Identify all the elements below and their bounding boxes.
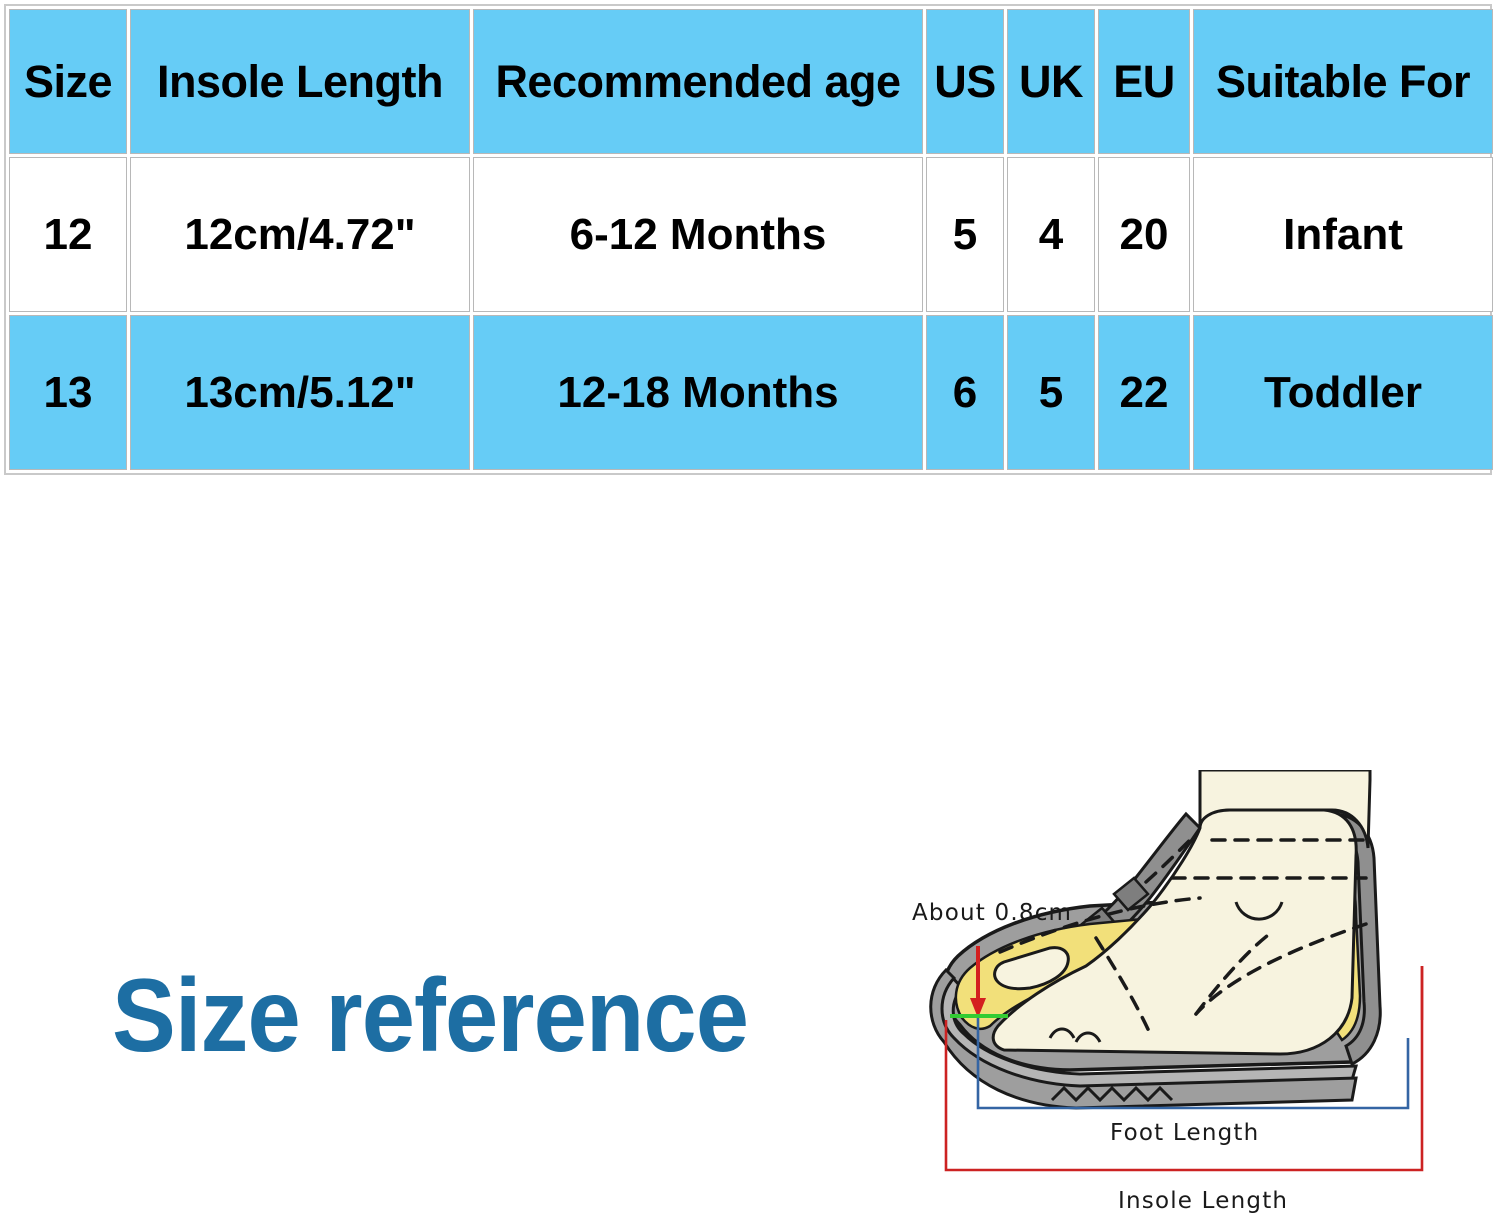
cell-suitable-for: Toddler <box>1193 315 1493 470</box>
gap-measurement-label: About 0.8cm <box>912 900 1072 926</box>
header-suitable-for: Suitable For <box>1193 9 1493 154</box>
table-row: 13 13cm/5.12" 12-18 Months 6 5 22 Toddle… <box>9 315 1493 470</box>
cell-us: 5 <box>926 157 1004 312</box>
size-table: Size Insole Length Recommended age US UK… <box>6 6 1496 473</box>
header-us: US <box>926 9 1004 154</box>
size-chart-table: Size Insole Length Recommended age US UK… <box>4 4 1492 475</box>
table-header-row: Size Insole Length Recommended age US UK… <box>9 9 1493 154</box>
header-recommended-age: Recommended age <box>473 9 923 154</box>
cell-eu: 20 <box>1098 157 1190 312</box>
cell-uk: 5 <box>1007 315 1095 470</box>
cell-us: 6 <box>926 315 1004 470</box>
cell-size: 13 <box>9 315 127 470</box>
header-size: Size <box>9 9 127 154</box>
cell-suitable-for: Infant <box>1193 157 1493 312</box>
cell-eu: 22 <box>1098 315 1190 470</box>
cell-insole-length: 12cm/4.72" <box>130 157 470 312</box>
cell-recommended-age: 6-12 Months <box>473 157 923 312</box>
header-eu: EU <box>1098 9 1190 154</box>
foot-length-label: Foot Length <box>1110 1120 1259 1146</box>
header-uk: UK <box>1007 9 1095 154</box>
table-row: 12 12cm/4.72" 6-12 Months 5 4 20 Infant <box>9 157 1493 312</box>
shoe-measurement-diagram: About 0.8cm Foot Length Insole Length <box>900 770 1490 1210</box>
cell-insole-length: 13cm/5.12" <box>130 315 470 470</box>
cell-recommended-age: 12-18 Months <box>473 315 923 470</box>
size-reference-title: Size reference <box>112 962 748 1071</box>
cell-size: 12 <box>9 157 127 312</box>
cell-uk: 4 <box>1007 157 1095 312</box>
insole-length-label: Insole Length <box>1118 1188 1288 1214</box>
header-insole-length: Insole Length <box>130 9 470 154</box>
